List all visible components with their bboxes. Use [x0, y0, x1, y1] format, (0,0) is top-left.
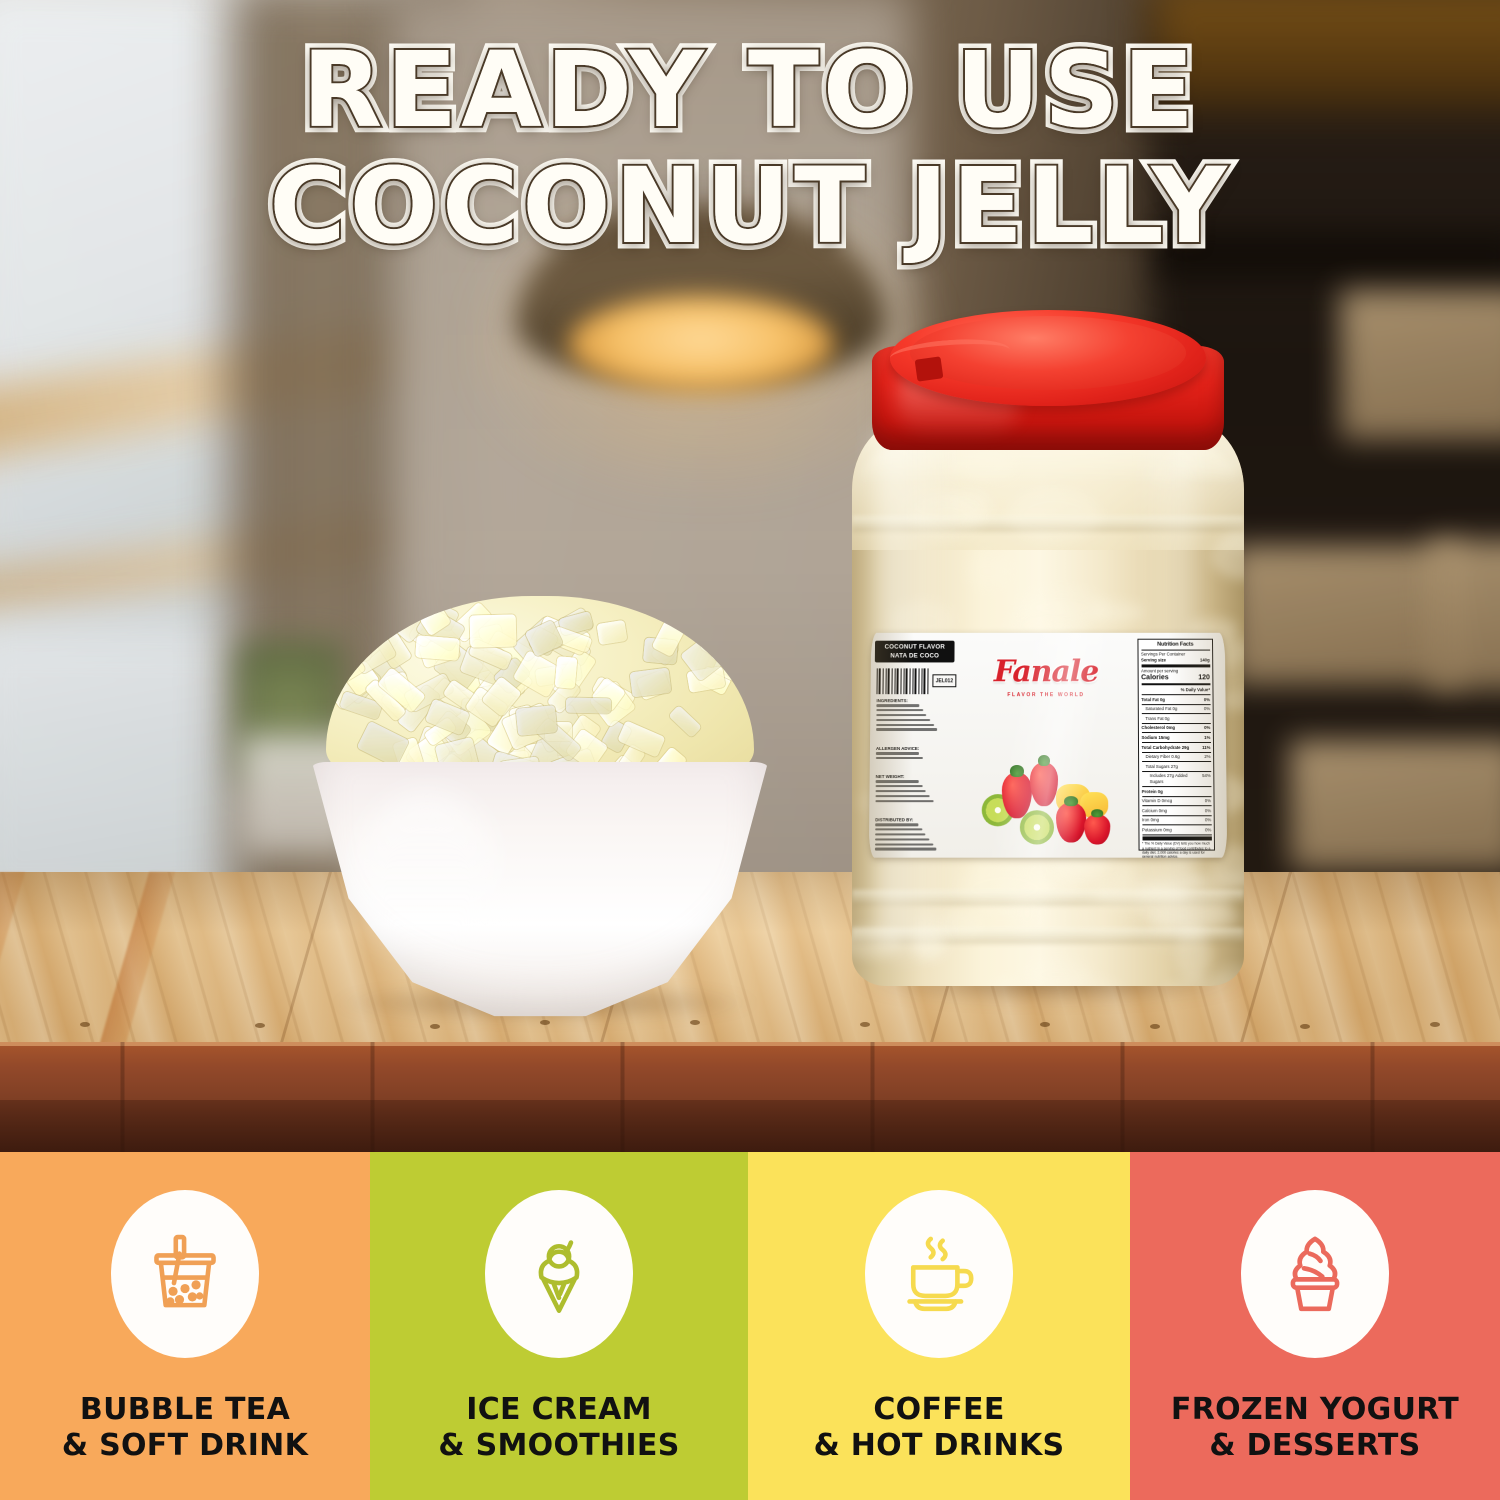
feature-label-line-1: ICE CREAM — [370, 1392, 748, 1428]
feature-label-line-2: & SOFT DRINK — [0, 1428, 370, 1464]
feature-label-line-1: COFFEE — [748, 1392, 1130, 1428]
table-screw — [1300, 1024, 1310, 1029]
table-screw — [860, 1022, 870, 1027]
table-screw — [1430, 1022, 1440, 1027]
frozen-yogurt-cup-icon — [1269, 1226, 1361, 1323]
feature-icon-badge — [1241, 1190, 1389, 1358]
feature-label: FROZEN YOGURT& DESSERTS — [1130, 1392, 1500, 1464]
feature-label-line-1: FROZEN YOGURT — [1130, 1392, 1500, 1428]
ice-cream-cone-icon — [513, 1226, 605, 1323]
jelly-cube — [555, 656, 578, 689]
jar-jelly-lump — [956, 865, 1053, 912]
feature-icon-badge — [485, 1190, 633, 1358]
feature-icon-badge — [111, 1190, 259, 1358]
table-screw — [80, 1022, 90, 1027]
bowl-highlight — [352, 792, 502, 972]
feature-panel-coffee[interactable]: COFFEE& HOT DRINKS — [748, 1152, 1130, 1500]
jar-jelly-lump — [1008, 488, 1101, 542]
label-curvature-shading — [869, 633, 1227, 858]
product-photo-scene: COCONUT FLAVOR NATA DE COCO JEL012 INGRE… — [0, 0, 1500, 1152]
jelly-cube — [516, 705, 558, 736]
cardboard-box — [1290, 740, 1500, 870]
table-screw — [1040, 1022, 1050, 1027]
bubble-tea-cup-icon — [139, 1226, 231, 1323]
jelly-cube — [470, 614, 517, 647]
feature-label-line-2: & SMOOTHIES — [370, 1428, 748, 1464]
headline-line-1: READY TO USE READY TO USE READY TO USE — [0, 40, 1500, 142]
jelly-cube — [415, 636, 459, 661]
feature-panel-bubble-tea[interactable]: BUBBLE TEA& SOFT DRINK — [0, 1152, 370, 1500]
product-label: COCONUT FLAVOR NATA DE COCO JEL012 INGRE… — [869, 633, 1227, 858]
coconut-jelly-jar: COCONUT FLAVOR NATA DE COCO JEL012 INGRE… — [838, 302, 1258, 1002]
jar-jelly-lump — [989, 980, 1022, 986]
table-screw — [430, 1024, 440, 1029]
cardboard-box — [1430, 540, 1500, 690]
page-title: READY TO USE READY TO USE READY TO USE C… — [0, 40, 1500, 258]
pendant-lamp-bulb — [568, 295, 834, 393]
usage-feature-bar: BUBBLE TEA& SOFT DRINK ICE CREAM& SMOOTH… — [0, 1152, 1500, 1500]
jelly-cube — [566, 698, 611, 713]
feature-label: BUBBLE TEA& SOFT DRINK — [0, 1392, 370, 1464]
jelly-cube — [630, 668, 672, 697]
feature-label-line-1: BUBBLE TEA — [0, 1392, 370, 1428]
feature-panel-frozen-yogurt[interactable]: FROZEN YOGURT& DESSERTS — [1130, 1152, 1500, 1500]
jar-jelly-lump — [966, 554, 1011, 589]
table-screw — [255, 1023, 265, 1028]
jelly-bowl — [312, 596, 768, 1024]
feature-panel-ice-cream[interactable]: ICE CREAM& SMOOTHIES — [370, 1152, 748, 1500]
jelly-cube — [338, 617, 363, 642]
lid-notch — [915, 356, 944, 381]
table-screw — [1150, 1024, 1160, 1029]
cardboard-box — [1230, 545, 1460, 685]
coffee-cup-icon — [893, 1226, 985, 1323]
table-edge-shadow — [0, 1100, 1500, 1152]
feature-icon-badge — [865, 1190, 1013, 1358]
headline-line-2: COCONUT JELLY COCONUT JELLY COCONUT JELL… — [0, 156, 1500, 258]
jelly-cube — [597, 620, 628, 645]
jar-jelly-lump — [1016, 587, 1108, 628]
feature-label-line-2: & HOT DRINKS — [748, 1428, 1130, 1464]
feature-label-line-2: & DESSERTS — [1130, 1428, 1500, 1464]
feature-label: COFFEE& HOT DRINKS — [748, 1392, 1130, 1464]
product-marketing-image: COCONUT FLAVOR NATA DE COCO JEL012 INGRE… — [0, 0, 1500, 1500]
cardboard-box — [1340, 290, 1500, 440]
feature-label: ICE CREAM& SMOOTHIES — [370, 1392, 748, 1464]
jelly-cube — [668, 705, 702, 738]
